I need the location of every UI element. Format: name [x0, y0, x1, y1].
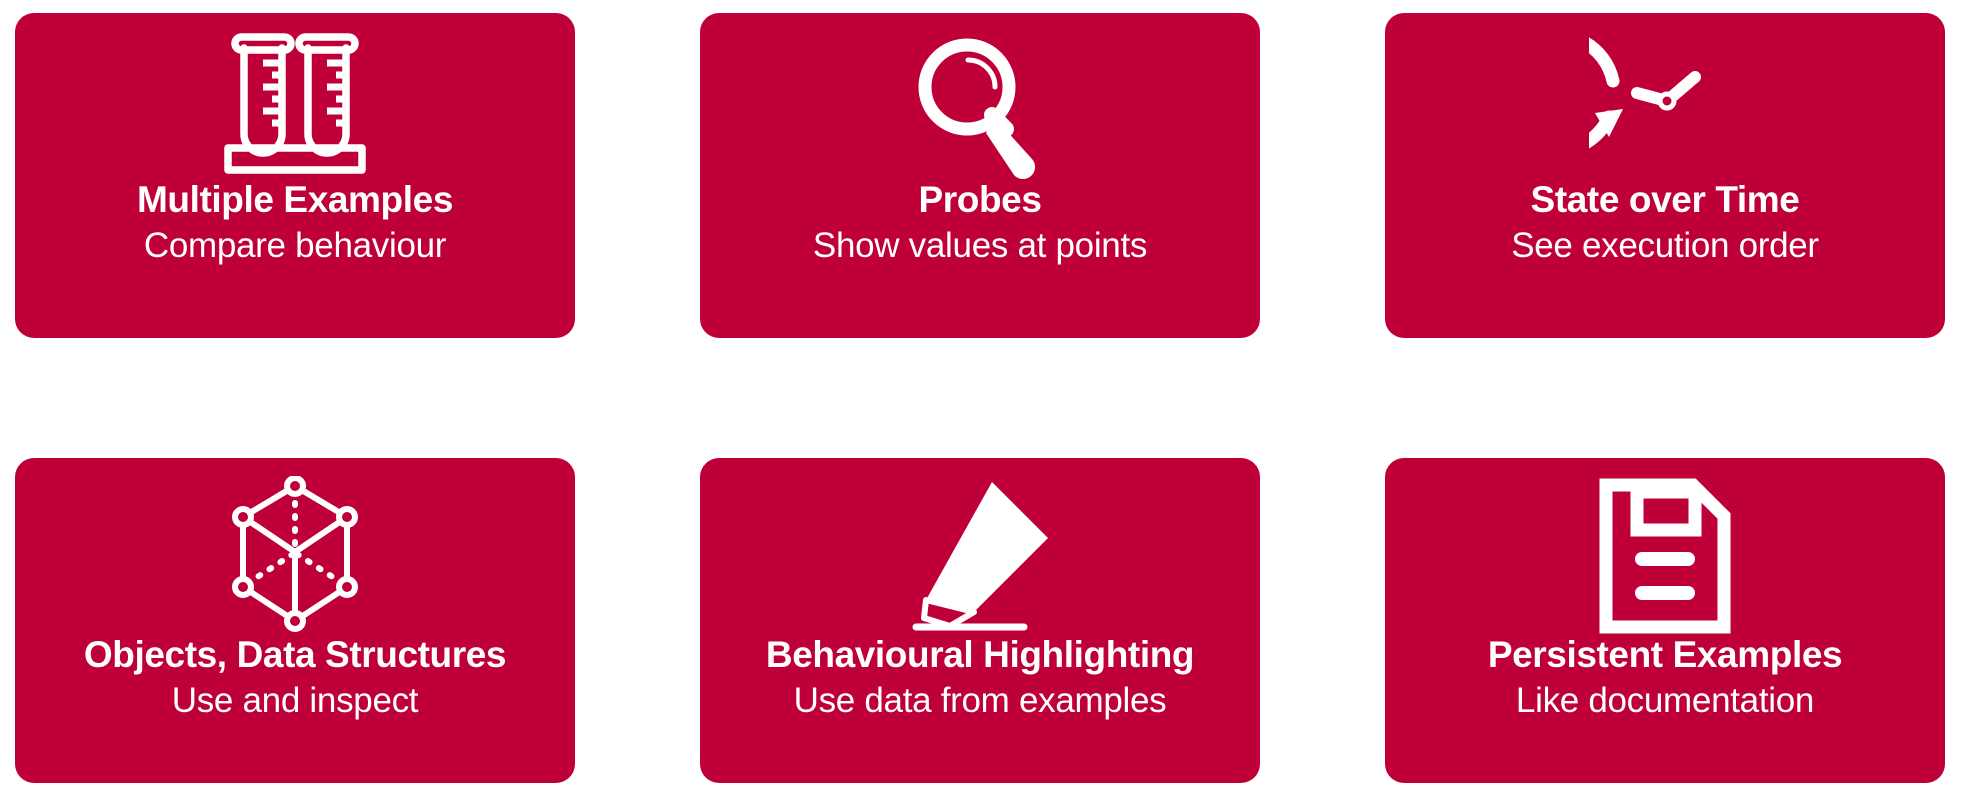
card-title: Probes: [700, 181, 1260, 218]
feature-card-behavioural-highlighting[interactable]: Behavioural Highlighting Use data from e…: [700, 458, 1260, 783]
card-subtitle: See execution order: [1385, 228, 1945, 263]
card-title: Persistent Examples: [1385, 636, 1945, 673]
card-subtitle: Compare behaviour: [15, 228, 575, 263]
feature-card-objects-data-structures[interactable]: Objects, Data Structures Use and inspect: [15, 458, 575, 783]
card-subtitle: Use data from examples: [700, 683, 1260, 718]
card-title: Behavioural Highlighting: [700, 636, 1260, 673]
card-title: State over Time: [1385, 181, 1945, 218]
test-tubes-icon: [15, 13, 575, 181]
card-subtitle: Like documentation: [1385, 683, 1945, 718]
highlighter-pen-icon: [700, 458, 1260, 636]
feature-card-labels: Behavioural Highlighting Use data from e…: [700, 636, 1260, 718]
feature-card-state-over-time[interactable]: State over Time See execution order: [1385, 13, 1945, 338]
clock-history-icon: [1385, 13, 1945, 181]
feature-card-multiple-examples[interactable]: Multiple Examples Compare behaviour: [15, 13, 575, 338]
card-title: Objects, Data Structures: [15, 636, 575, 673]
magnifying-glass-icon: [700, 13, 1260, 181]
feature-card-grid: Multiple Examples Compare behaviour Prob…: [0, 0, 1966, 790]
feature-card-labels: Probes Show values at points: [700, 181, 1260, 263]
card-subtitle: Use and inspect: [15, 683, 575, 718]
feature-card-labels: Persistent Examples Like documentation: [1385, 636, 1945, 718]
card-subtitle: Show values at points: [700, 228, 1260, 263]
card-title: Multiple Examples: [15, 181, 575, 218]
cube-graph-icon: [15, 458, 575, 636]
feature-card-labels: Multiple Examples Compare behaviour: [15, 181, 575, 263]
save-document-icon: [1385, 458, 1945, 636]
feature-card-probes[interactable]: Probes Show values at points: [700, 13, 1260, 338]
feature-card-persistent-examples[interactable]: Persistent Examples Like documentation: [1385, 458, 1945, 783]
feature-card-labels: Objects, Data Structures Use and inspect: [15, 636, 575, 718]
feature-card-labels: State over Time See execution order: [1385, 181, 1945, 263]
